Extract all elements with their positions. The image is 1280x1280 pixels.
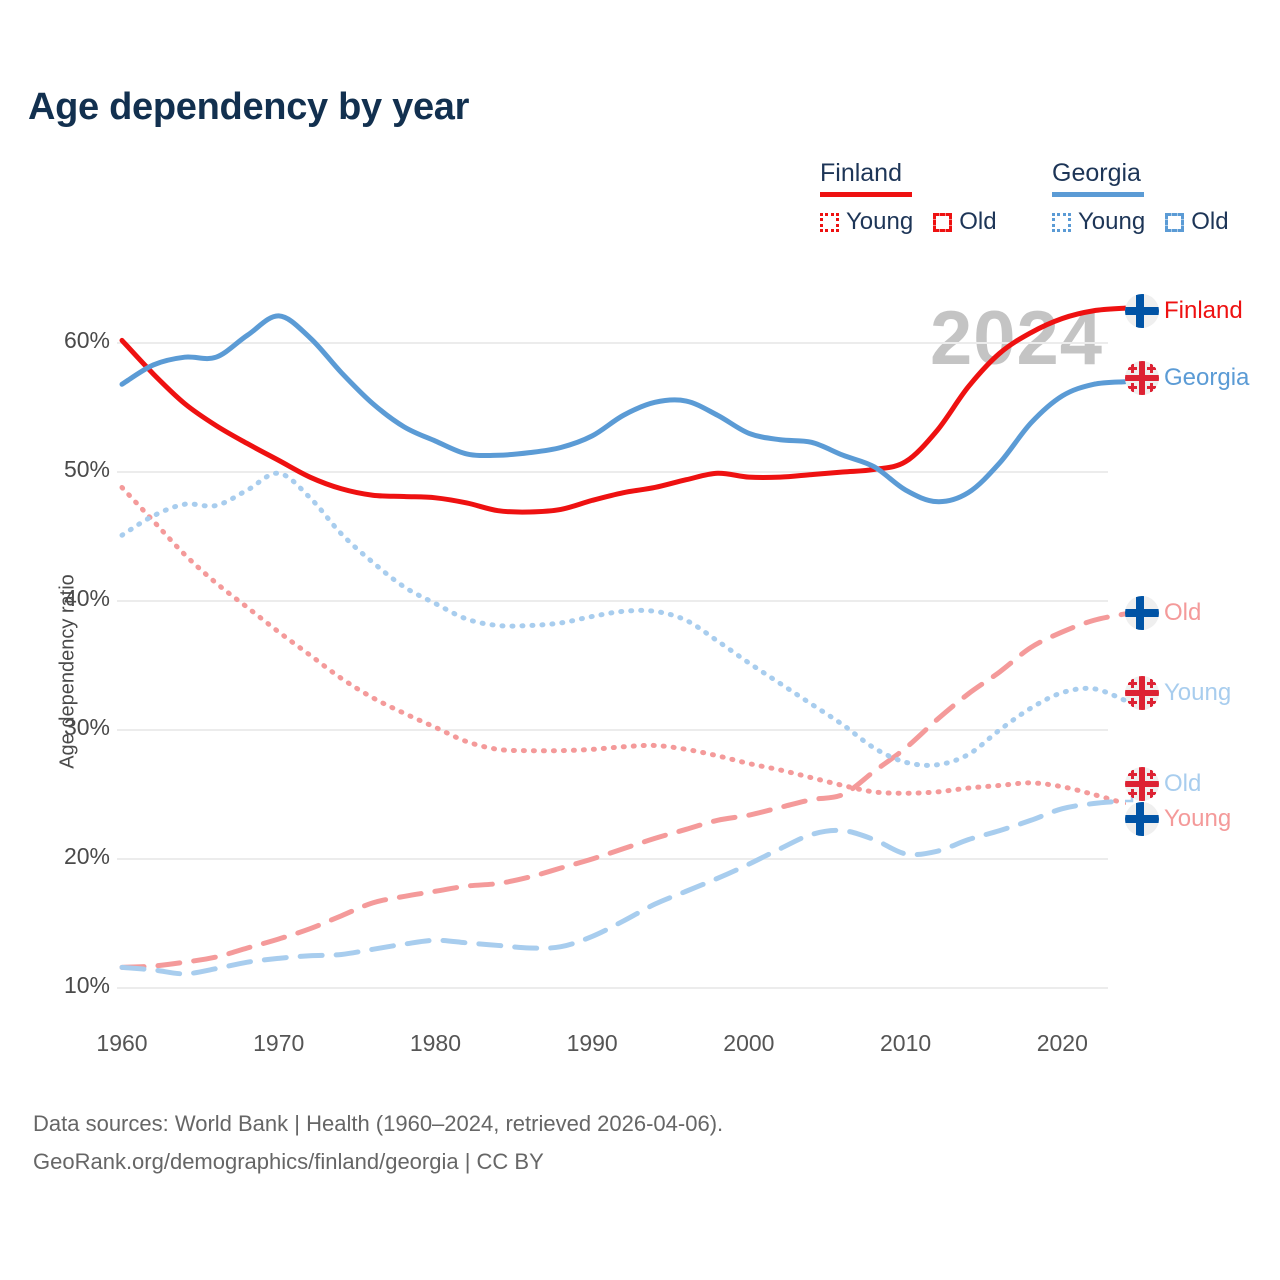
finland-flag-icon [1125,802,1159,836]
end-label-finland-old[interactable]: Old [1125,596,1201,630]
gridlines [117,343,1108,988]
footer-line-license: GeoRank.org/demographics/finland/georgia… [33,1143,723,1181]
x-tick-label: 2000 [694,1030,804,1057]
georgia-flag-icon [1125,676,1159,710]
series-line-finland-young [122,487,1125,803]
plot-area [0,0,1280,1080]
x-tick-label: 2010 [851,1030,961,1057]
finland-flag-icon [1125,294,1159,328]
y-tick-label: 30% [30,714,110,741]
end-label-text: Old [1164,599,1201,627]
y-tick-label: 10% [30,972,110,999]
series-line-finland-total [122,308,1125,512]
end-label-finland-total[interactable]: Finland [1125,294,1243,328]
x-tick-label: 1970 [224,1030,334,1057]
end-label-text: Young [1164,805,1231,833]
chart-container: Age dependency by year Finland Young Old… [0,0,1280,1280]
georgia-flag-icon [1125,361,1159,395]
y-tick-label: 50% [30,456,110,483]
x-tick-label: 1960 [67,1030,177,1057]
end-label-text: Old [1164,770,1201,798]
end-label-text: Georgia [1164,364,1249,392]
end-label-georgia-old[interactable]: Old [1125,767,1201,801]
end-label-georgia-total[interactable]: Georgia [1125,361,1249,395]
x-tick-label: 1990 [537,1030,647,1057]
y-tick-label: 20% [30,843,110,870]
y-tick-label: 40% [30,585,110,612]
footer-line-sources: Data sources: World Bank | Health (1960–… [33,1105,723,1143]
series-line-georgia-young [122,473,1125,765]
series-line-finland-old [122,614,1125,967]
y-axis-ticks: 10%20%30%40%50%60% [28,0,110,1030]
end-label-text: Finland [1164,297,1243,325]
footer-attribution: Data sources: World Bank | Health (1960–… [33,1105,723,1181]
series-lines [122,308,1140,974]
x-tick-label: 2020 [1007,1030,1117,1057]
georgia-flag-icon [1125,767,1159,801]
end-label-georgia-young[interactable]: Young [1125,676,1231,710]
x-tick-label: 1980 [380,1030,490,1057]
y-tick-label: 60% [30,327,110,354]
series-line-georgia-old [122,801,1125,974]
finland-flag-icon [1125,596,1159,630]
end-label-finland-young[interactable]: Young [1125,802,1231,836]
end-label-text: Young [1164,679,1231,707]
